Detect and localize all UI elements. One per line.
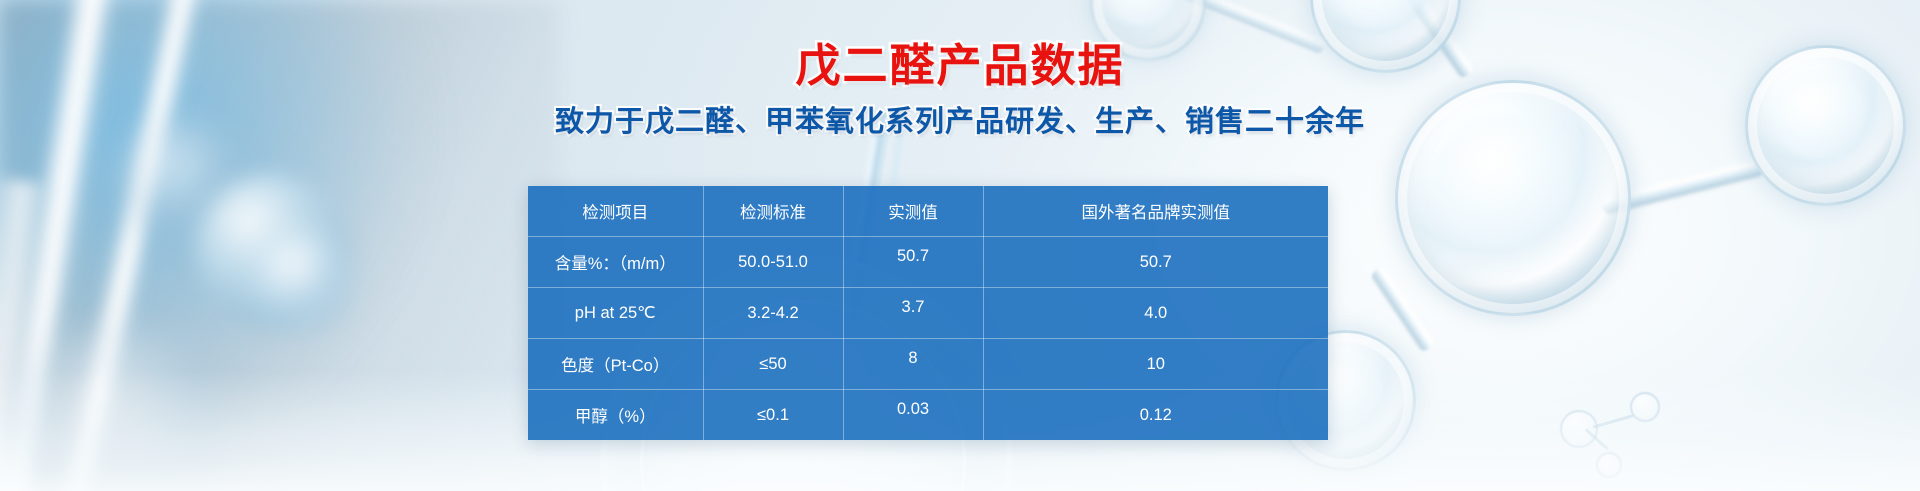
cell-foreign-brand: 0.12	[983, 390, 1328, 441]
mini-molecule-icon	[1630, 392, 1660, 422]
banner-headings: 戊二醛产品数据 致力于戊二醛、甲苯氧化系列产品研发、生产、销售二十余年	[0, 42, 1920, 140]
cell-standard: 50.0-51.0	[703, 237, 843, 288]
spec-table-container: 检测项目 检测标准 实测值 国外著名品牌实测值 含量%：（m/m） 50.0-5…	[528, 186, 1328, 440]
column-header-measured: 实测值	[843, 186, 983, 237]
cell-standard: 3.2-4.2	[703, 288, 843, 339]
table-row: 含量%：（m/m） 50.0-51.0 50.7 50.7	[528, 237, 1328, 288]
table-row: 甲醇（%） ≤0.1 0.03 0.12	[528, 390, 1328, 441]
cell-item: 含量%：（m/m）	[528, 237, 703, 288]
cell-item: 色度（Pt-Co）	[528, 339, 703, 390]
cell-measured-value: 50.7	[897, 247, 929, 266]
page-subtitle: 致力于戊二醛、甲苯氧化系列产品研发、生产、销售二十余年	[0, 98, 1920, 140]
cell-measured: 3.7	[843, 288, 983, 339]
mini-molecule-icon	[1596, 452, 1622, 478]
column-header-foreign-brand: 国外著名品牌实测值	[983, 186, 1328, 237]
cell-standard: ≤0.1	[703, 390, 843, 441]
cell-measured-value: 0.03	[897, 400, 929, 419]
cell-measured-value: 3.7	[902, 298, 925, 317]
table-header-row: 检测项目 检测标准 实测值 国外著名品牌实测值	[528, 186, 1328, 237]
page-title: 戊二醛产品数据	[0, 42, 1920, 89]
cell-standard: ≤50	[703, 339, 843, 390]
cell-measured: 50.7	[843, 237, 983, 288]
cell-foreign-brand: 4.0	[983, 288, 1328, 339]
product-data-banner: 戊二醛产品数据 致力于戊二醛、甲苯氧化系列产品研发、生产、销售二十余年 检测项目…	[0, 0, 1920, 491]
cell-measured: 8	[843, 339, 983, 390]
cell-measured: 0.03	[843, 390, 983, 441]
cell-item: pH at 25℃	[528, 288, 703, 339]
column-header-item: 检测项目	[528, 186, 703, 237]
column-header-standard: 检测标准	[703, 186, 843, 237]
spec-table: 检测项目 检测标准 实测值 国外著名品牌实测值 含量%：（m/m） 50.0-5…	[528, 186, 1328, 440]
table-row: 色度（Pt-Co） ≤50 8 10	[528, 339, 1328, 390]
cell-foreign-brand: 50.7	[983, 237, 1328, 288]
mini-molecule-icon	[1560, 410, 1598, 448]
cell-foreign-brand: 10	[983, 339, 1328, 390]
cell-measured-value: 8	[908, 349, 917, 368]
mini-molecule-bond-icon	[1592, 414, 1633, 428]
table-row: pH at 25℃ 3.2-4.2 3.7 4.0	[528, 288, 1328, 339]
cell-item: 甲醇（%）	[528, 390, 703, 441]
